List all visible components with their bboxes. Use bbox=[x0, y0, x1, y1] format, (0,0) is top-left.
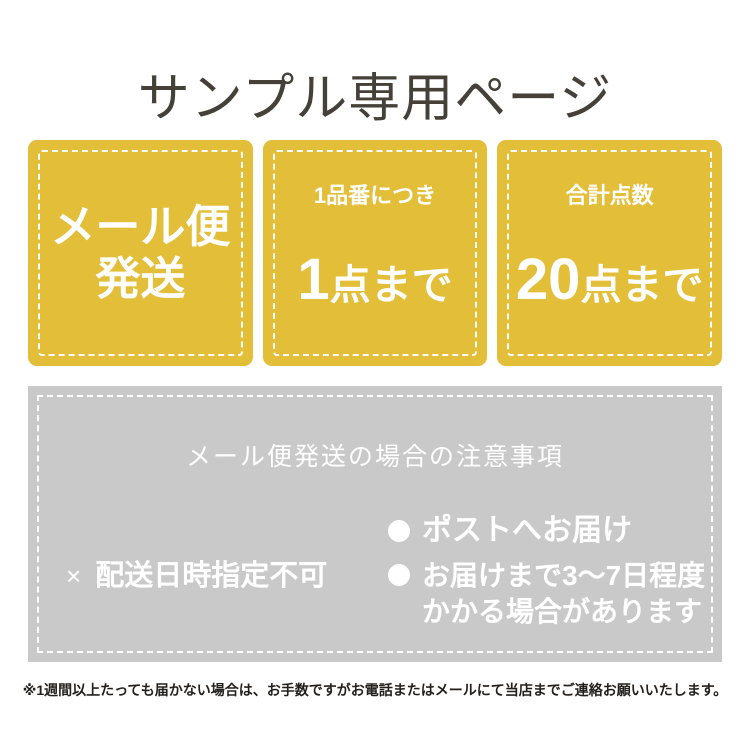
bullet-dot-icon bbox=[388, 520, 410, 542]
notice-bullet-column: ポストへお届け お届けまで3〜7日程度 かかる場合があります bbox=[388, 506, 722, 638]
cross-icon: × bbox=[66, 559, 81, 593]
restriction-item: × 配送日時指定不可 bbox=[66, 559, 327, 593]
card-shipping-method: メール便 発送 bbox=[28, 140, 253, 366]
card-per-item-limit-content: 1品番につき 1点まで bbox=[263, 183, 488, 324]
notice-heading: メール便発送の場合の注意事項 bbox=[28, 442, 722, 472]
card-total-limit-value: 20点まで bbox=[497, 251, 722, 324]
card-per-item-limit-number: 1 bbox=[297, 247, 329, 312]
card-shipping-method-line-1: メール便 bbox=[28, 201, 253, 253]
notice-panel: メール便発送の場合の注意事項 × 配送日時指定不可 ポストへお届け お届けまで3… bbox=[28, 386, 722, 662]
card-total-limit-number: 20 bbox=[516, 247, 581, 312]
page-title: サンプル専用ページ bbox=[0, 69, 750, 129]
sample-page-banner: サンプル専用ページ メール便 発送 1品番につき 1点まで 合計点数 bbox=[0, 0, 750, 750]
notice-body: × 配送日時指定不可 ポストへお届け お届けまで3〜7日程度 かかる場合がありま… bbox=[28, 506, 722, 646]
info-card-row: メール便 発送 1品番につき 1点まで 合計点数 20点まで bbox=[28, 140, 722, 366]
bullet-dot-icon bbox=[388, 564, 410, 586]
notice-bullet-label: お届けまで3〜7日程度 かかる場合があります bbox=[422, 558, 705, 630]
card-total-limit-content: 合計点数 20点まで bbox=[497, 183, 722, 324]
notice-restriction-column: × 配送日時指定不可 bbox=[28, 506, 388, 646]
card-shipping-method-content: メール便 発送 bbox=[28, 201, 253, 305]
card-per-item-limit-unit: 点まで bbox=[330, 262, 453, 308]
card-per-item-limit-value: 1点まで bbox=[263, 251, 488, 324]
card-shipping-method-line-2: 発送 bbox=[28, 253, 253, 305]
card-per-item-limit: 1品番につき 1点まで bbox=[263, 140, 488, 366]
card-total-limit: 合計点数 20点まで bbox=[497, 140, 722, 366]
card-per-item-limit-caption: 1品番につき bbox=[263, 183, 488, 209]
restriction-label: 配送日時指定不可 bbox=[95, 559, 327, 593]
notice-bullet-item: お届けまで3〜7日程度 かかる場合があります bbox=[388, 558, 722, 630]
card-total-limit-caption: 合計点数 bbox=[497, 183, 722, 209]
footer-note: ※1週間以上たっても届かない場合は、お手数ですがお電話またはメールにて当店までご… bbox=[0, 680, 750, 700]
notice-bullet-item: ポストへお届け bbox=[388, 512, 722, 550]
notice-bullet-label: ポストへお届け bbox=[422, 512, 632, 550]
card-total-limit-unit: 点まで bbox=[580, 262, 703, 308]
